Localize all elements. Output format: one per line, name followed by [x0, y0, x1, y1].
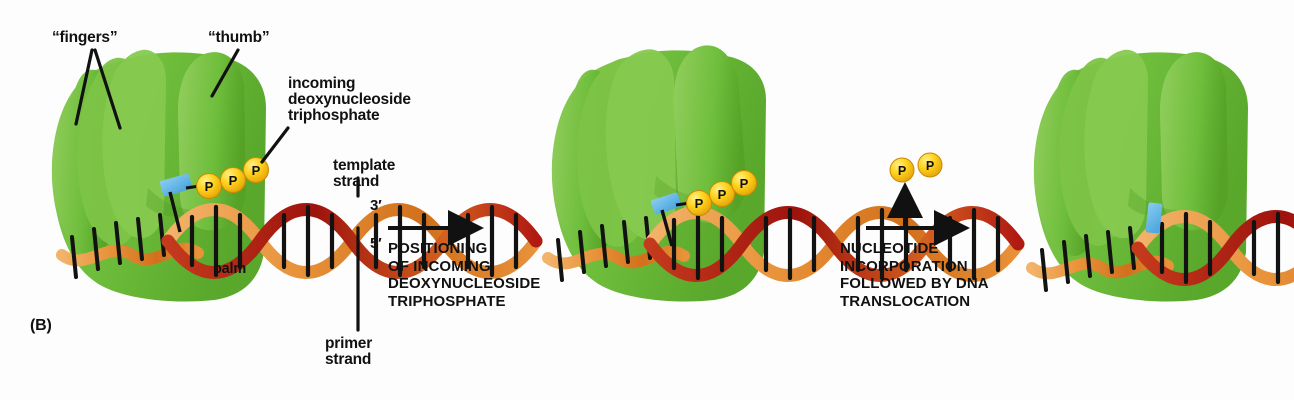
- svg-text:P: P: [740, 176, 749, 191]
- svg-text:P: P: [926, 159, 934, 173]
- callout-primer-strand: primer strand: [325, 336, 372, 368]
- callout-incoming-dntp: incoming deoxynucleoside triphosphate: [288, 76, 411, 124]
- callout-fingers: “fingers”: [52, 30, 117, 46]
- phosphate-circle: P: [890, 158, 914, 182]
- phosphate-circle: P: [710, 182, 735, 207]
- figure-canvas: P P P: [0, 0, 1294, 400]
- svg-text:P: P: [695, 196, 704, 211]
- svg-text:P: P: [252, 163, 261, 178]
- released-pyrophosphate: P P: [890, 153, 942, 182]
- phosphate-circle: P: [197, 174, 222, 199]
- transition-2-label: NUCLEOTIDE INCORPORATION FOLLOWED BY DNA…: [840, 240, 989, 311]
- transition-1-label: POSITIONING OF INCOMING DEOXYNUCLEOSIDE …: [388, 240, 540, 311]
- svg-text:P: P: [229, 173, 238, 188]
- phosphate-circle: P: [918, 153, 942, 177]
- callout-template-strand: template strand: [333, 158, 395, 190]
- label-five-prime: 5′: [370, 236, 382, 252]
- diagram-artwork: P P P: [0, 0, 1294, 400]
- phosphate-circle: P: [687, 191, 712, 216]
- phosphate-circle: P: [732, 171, 757, 196]
- panel-label-b: (B): [30, 318, 52, 335]
- label-three-prime: 3′: [370, 198, 382, 214]
- callout-thumb: “thumb”: [208, 30, 269, 46]
- svg-text:P: P: [718, 187, 727, 202]
- phosphate-circle: P: [244, 158, 269, 183]
- phosphate-circle: P: [221, 168, 246, 193]
- svg-text:P: P: [898, 164, 906, 178]
- svg-text:P: P: [205, 179, 214, 194]
- callout-palm: palm: [213, 262, 246, 277]
